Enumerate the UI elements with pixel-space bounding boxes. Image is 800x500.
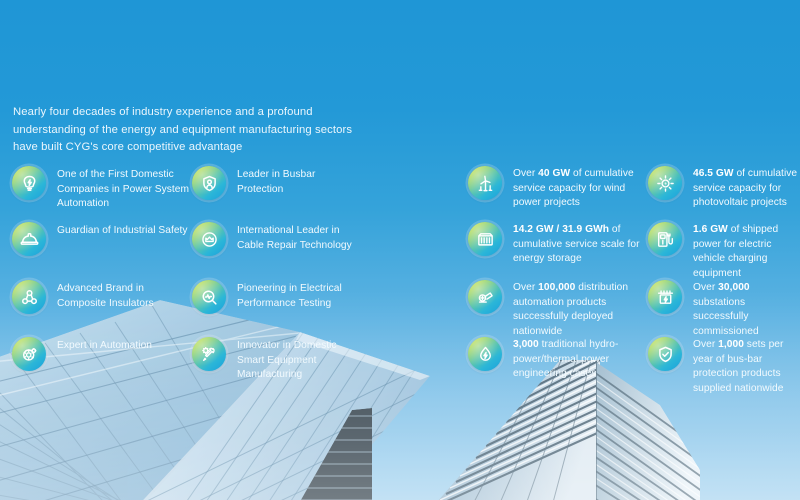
metric-item-hydro-thermal[interactable]: 3,000 traditional hydro-power/thermal po… [468, 337, 646, 382]
feature-label: Expert in Automation [57, 337, 152, 354]
energy-storage-icon [468, 222, 502, 256]
feature-grid: One of the First Domestic Companies in P… [0, 0, 800, 500]
smart-equipment-tool-icon [192, 337, 226, 371]
metric-label: 1.6 GW of shipped power for electric veh… [693, 222, 800, 281]
feature-label: One of the First Domestic Companies in P… [57, 166, 190, 212]
feature-label: International Leader in Cable Repair Tec… [237, 222, 362, 253]
metric-item-busbar-protection-sets[interactable]: Over 1,000 sets per year of bus-bar prot… [648, 337, 800, 396]
feature-item-composite-insulators[interactable]: Advanced Brand in Composite Insulators [12, 280, 190, 314]
composite-insulator-icon [12, 280, 46, 314]
metric-item-distribution-automation[interactable]: Over 100,000 distribution automation pro… [468, 280, 646, 339]
busbar-shield-icon [192, 166, 226, 200]
ev-charging-icon [648, 222, 682, 256]
substation-icon [648, 280, 682, 314]
waveform-magnifier-icon [192, 280, 226, 314]
solar-photovoltaic-icon [648, 166, 682, 200]
feature-label: Pioneering in Electrical Performance Tes… [237, 280, 362, 311]
feature-item-busbar-protection[interactable]: Leader in Busbar Protection [192, 166, 362, 200]
feature-item-smart-equipment[interactable]: Innovator in Domestic Smart Equipment Ma… [192, 337, 362, 383]
safety-helmet-icon [12, 222, 46, 256]
metric-label: 14.2 GW / 31.9 GWh of cumulative service… [513, 222, 646, 267]
gear-automation-icon [12, 337, 46, 371]
feature-item-expert-automation[interactable]: Expert in Automation [12, 337, 152, 371]
hydro-power-drop-icon [468, 337, 502, 371]
metric-label: 46.5 GW of cumulative service capacity f… [693, 166, 800, 211]
feature-label: Advanced Brand in Composite Insulators [57, 280, 190, 311]
metric-item-ev-charging[interactable]: 1.6 GW of shipped power for electric veh… [648, 222, 800, 281]
metric-item-substations[interactable]: Over 30,000 substations successfully com… [648, 280, 800, 339]
metric-label: Over 40 GW of cumulative service capacit… [513, 166, 646, 211]
metric-label: Over 30,000 substations successfully com… [693, 280, 800, 339]
feature-item-performance-testing[interactable]: Pioneering in Electrical Performance Tes… [192, 280, 362, 314]
power-system-automation-icon [12, 166, 46, 200]
metric-item-energy-storage[interactable]: 14.2 GW / 31.9 GWh of cumulative service… [468, 222, 646, 267]
metric-label: 3,000 traditional hydro-power/thermal po… [513, 337, 646, 382]
feature-label: Guardian of Industrial Safety [57, 222, 188, 239]
crown-award-icon [192, 222, 226, 256]
feature-item-industrial-safety[interactable]: Guardian of Industrial Safety [12, 222, 188, 256]
feature-item-cable-repair[interactable]: International Leader in Cable Repair Tec… [192, 222, 362, 256]
metric-label: Over 100,000 distribution automation pro… [513, 280, 646, 339]
metric-item-photovoltaic[interactable]: 46.5 GW of cumulative service capacity f… [648, 166, 800, 211]
feature-label: Innovator in Domestic Smart Equipment Ma… [237, 337, 362, 383]
metric-label: Over 1,000 sets per year of bus-bar prot… [693, 337, 800, 396]
distribution-automation-icon [468, 280, 502, 314]
feature-item-power-system-automation[interactable]: One of the First Domestic Companies in P… [12, 166, 190, 212]
feature-label: Leader in Busbar Protection [237, 166, 362, 197]
wind-turbine-icon [468, 166, 502, 200]
metric-item-wind-power[interactable]: Over 40 GW of cumulative service capacit… [468, 166, 646, 211]
busbar-protection-shield-icon [648, 337, 682, 371]
